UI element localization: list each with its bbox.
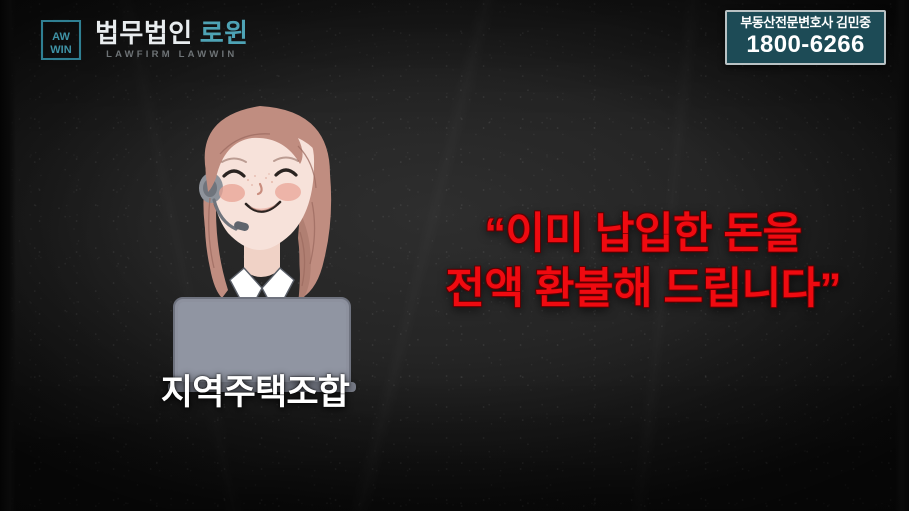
- svg-text:AW: AW: [52, 31, 70, 43]
- phone-number: 1800-6266: [733, 32, 878, 58]
- agent-illustration: [148, 92, 380, 392]
- headline-line-1: “이미 납입한 돈을: [408, 207, 878, 262]
- brand-name-primary: 법무법인: [95, 18, 193, 48]
- blush-left: [219, 184, 245, 202]
- headline-quote: “이미 납입한 돈을 전액 환불해 드립니다”: [408, 207, 878, 317]
- brand-name-roman: LAWFIRM LAWWIN: [95, 50, 249, 60]
- lawwin-emblem-icon: AW WIN: [38, 17, 84, 63]
- video-frame: AW WIN 법무법인로윈 LAWFIRM LAWWIN 부동산전문변호사 김민…: [0, 0, 909, 511]
- attorney-title: 부동산전문변호사 김민중: [733, 16, 878, 31]
- left-edge-shadow: [0, 0, 16, 511]
- headline-line-2: 전액 환불해 드립니다”: [408, 262, 878, 317]
- brand-name-secondary: 로윈: [200, 18, 249, 48]
- right-edge-shadow: [895, 0, 909, 511]
- svg-text:WIN: WIN: [50, 44, 71, 56]
- contact-badge[interactable]: 부동산전문변호사 김민중 1800-6266: [725, 10, 886, 65]
- brand-logo: AW WIN 법무법인로윈 LAWFIRM LAWWIN: [38, 17, 249, 63]
- caption-label: 지역주택조합: [130, 375, 380, 410]
- brand-name: 법무법인로윈: [95, 20, 249, 46]
- blush-right: [275, 183, 301, 201]
- brand-logo-text: 법무법인로윈 LAWFIRM LAWWIN: [95, 20, 249, 60]
